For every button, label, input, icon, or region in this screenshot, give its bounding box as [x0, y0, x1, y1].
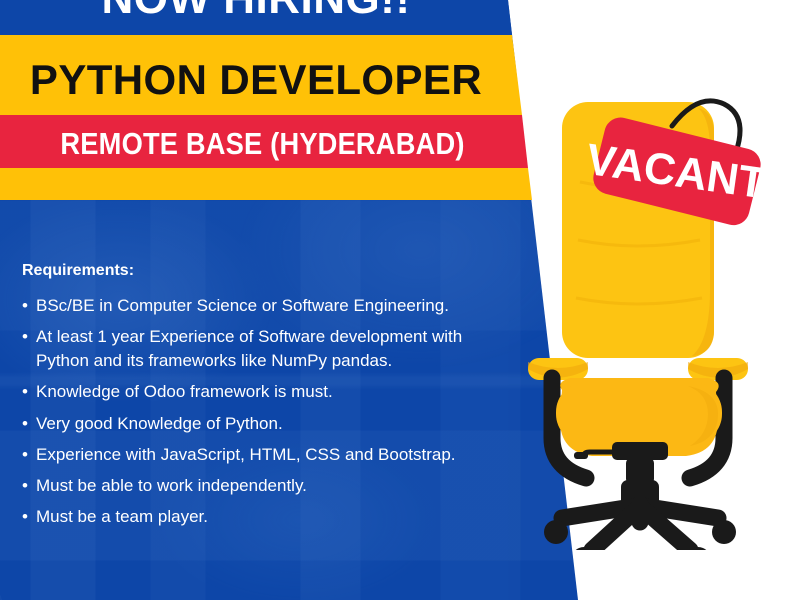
- requirements-heading: Requirements:: [22, 262, 542, 280]
- requirement-item: Must be a team player.: [22, 505, 542, 529]
- banner-stripe-yellow-lower: [0, 168, 600, 200]
- requirement-item: Must be able to work independently.: [22, 474, 542, 498]
- requirements-list: BSc/BE in Computer Science or Software E…: [22, 294, 542, 529]
- requirement-item: BSc/BE in Computer Science or Software E…: [22, 294, 542, 318]
- hiring-poster: NOW HIRING!! PYTHON DEVELOPER REMOTE BAS…: [0, 0, 800, 600]
- job-location-heading: REMOTE BASE (HYDERABAD): [32, 126, 494, 162]
- requirements-section: Requirements: BSc/BE in Computer Science…: [22, 262, 542, 536]
- requirement-item: Knowledge of Odoo framework is must.: [22, 380, 542, 404]
- chair-base: [562, 504, 718, 550]
- now-hiring-headline: NOW HIRING!!: [0, 0, 512, 24]
- office-chair-illustration: VACANT: [520, 90, 800, 550]
- requirement-item: At least 1 year Experience of Software d…: [22, 325, 542, 373]
- requirement-item: Experience with JavaScript, HTML, CSS an…: [22, 443, 542, 467]
- job-title-heading: PYTHON DEVELOPER: [0, 56, 512, 104]
- requirement-item: Very good Knowledge of Python.: [22, 412, 542, 436]
